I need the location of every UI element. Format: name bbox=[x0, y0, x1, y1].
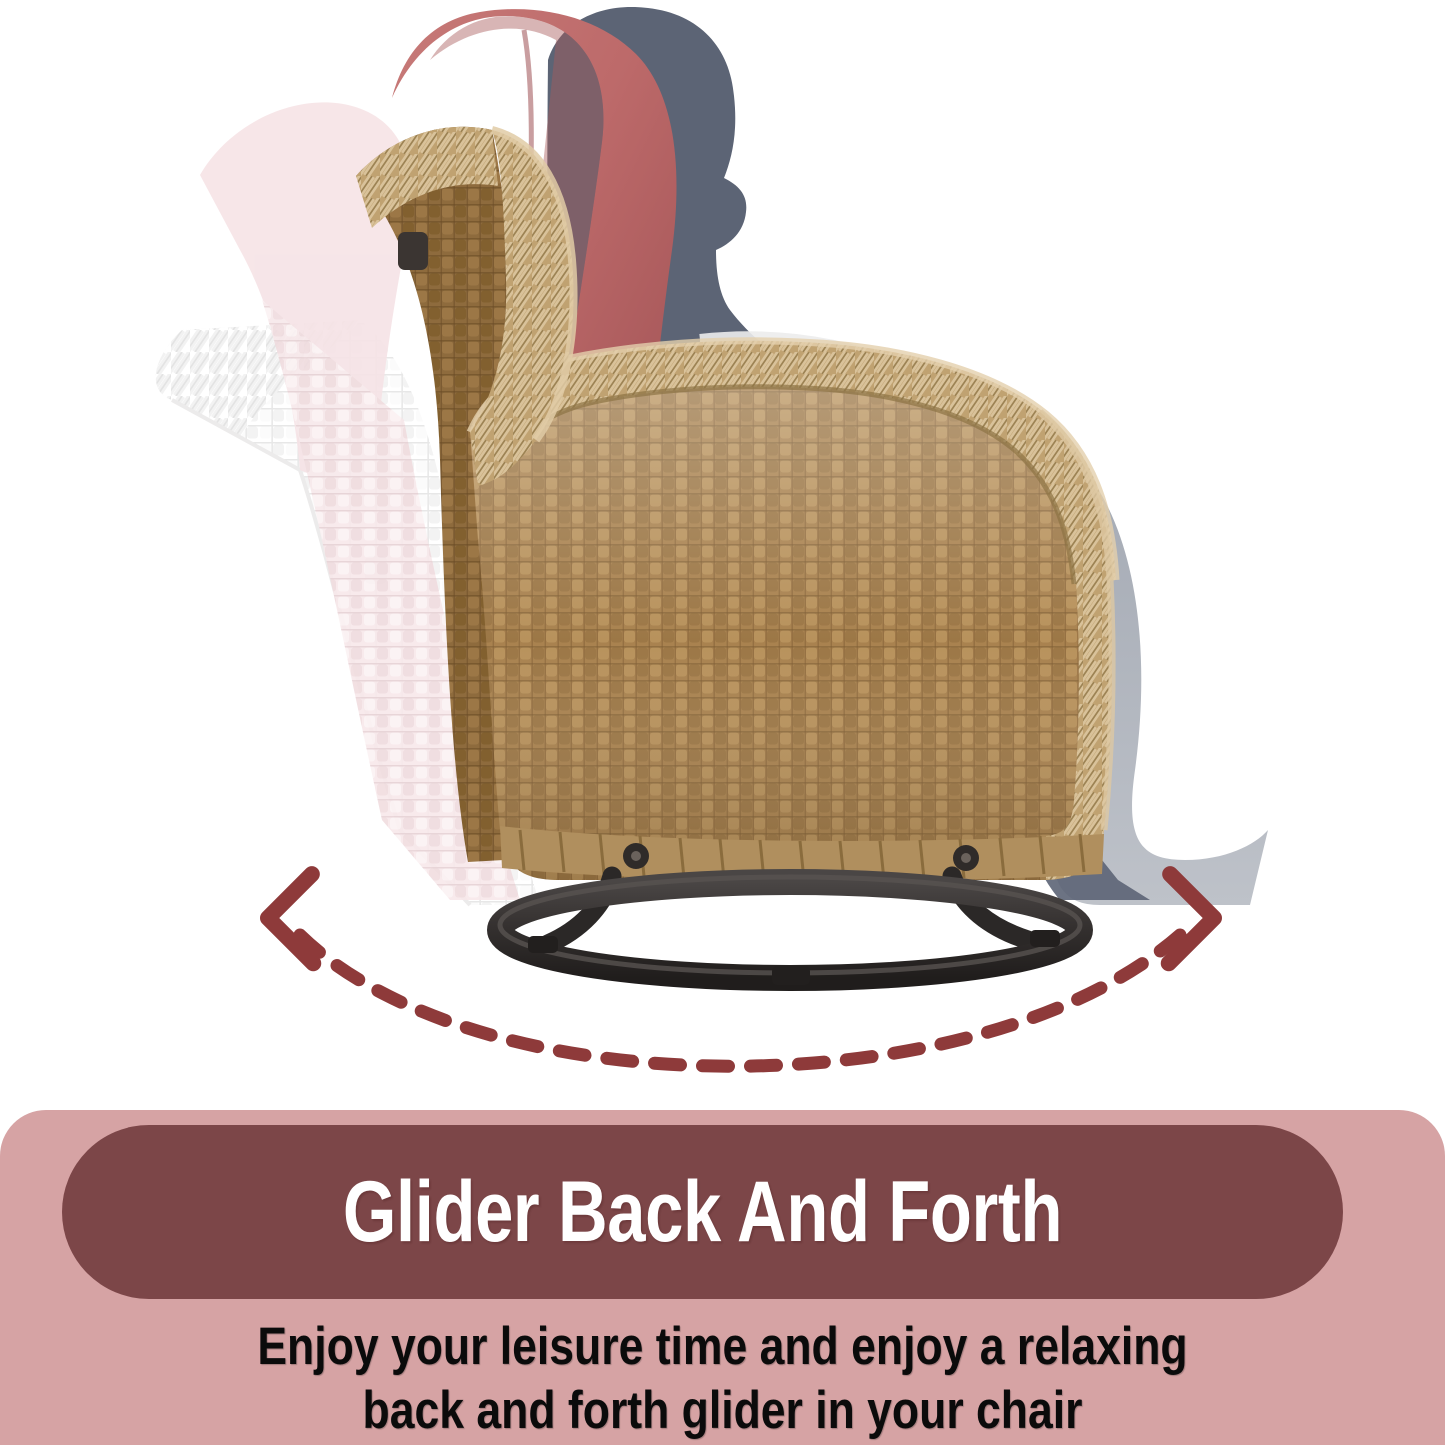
product-feature-image: Glider Back And Forth Enjoy your leisure… bbox=[0, 0, 1445, 1445]
motion-arc-dashed bbox=[300, 935, 1180, 1066]
subtitle-line-1: Enjoy your leisure time and enjoy a rela… bbox=[116, 1315, 1330, 1379]
headline-pill: Glider Back And Forth bbox=[62, 1125, 1343, 1299]
subtitle-block: Enjoy your leisure time and enjoy a rela… bbox=[0, 1315, 1445, 1443]
bolt-back-upper bbox=[398, 232, 428, 270]
back-and-forth-motion-indicator bbox=[0, 860, 1445, 1120]
caption-panel: Glider Back And Forth Enjoy your leisure… bbox=[0, 1110, 1445, 1445]
subtitle-line-2: back and forth glider in your chair bbox=[116, 1379, 1330, 1443]
headline-text: Glider Back And Forth bbox=[343, 1169, 1062, 1255]
